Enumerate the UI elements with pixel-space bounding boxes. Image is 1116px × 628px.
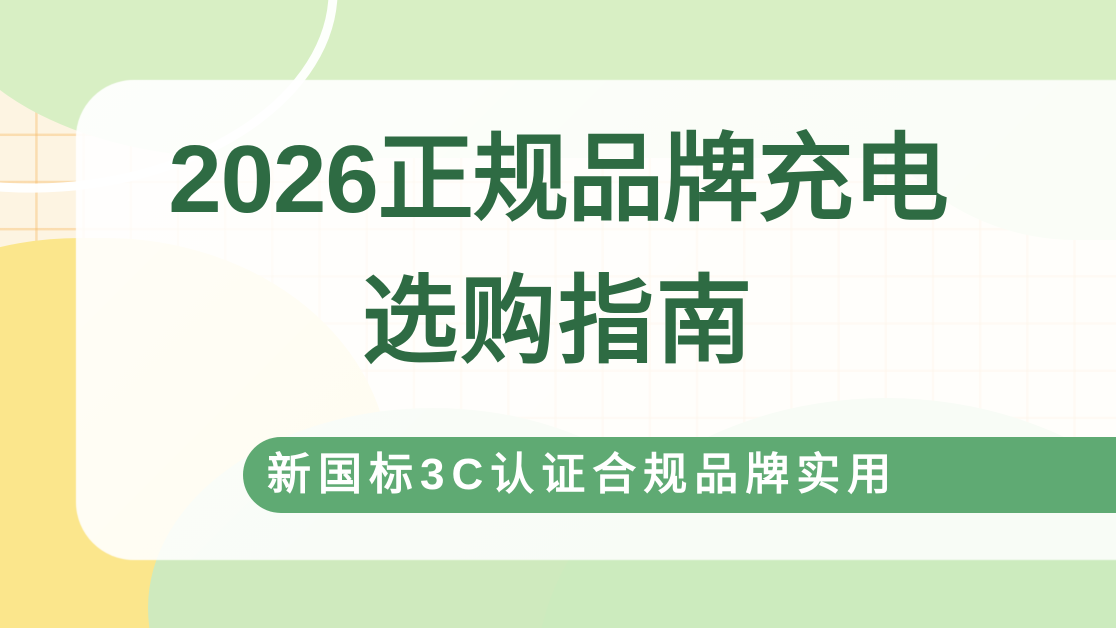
- subtitle-text: 新国标3C认证合规品牌实用: [267, 453, 898, 497]
- subtitle-banner: 新国标3C认证合规品牌实用: [243, 437, 1116, 513]
- poster-title-line-1: 2026正规品牌充电: [0, 132, 1116, 228]
- poster-title-line-2: 选购指南: [0, 274, 1116, 370]
- poster-canvas: 2026正规品牌充电 选购指南 新国标3C认证合规品牌实用: [0, 0, 1116, 628]
- poster-content: 2026正规品牌充电 选购指南 新国标3C认证合规品牌实用: [0, 0, 1116, 628]
